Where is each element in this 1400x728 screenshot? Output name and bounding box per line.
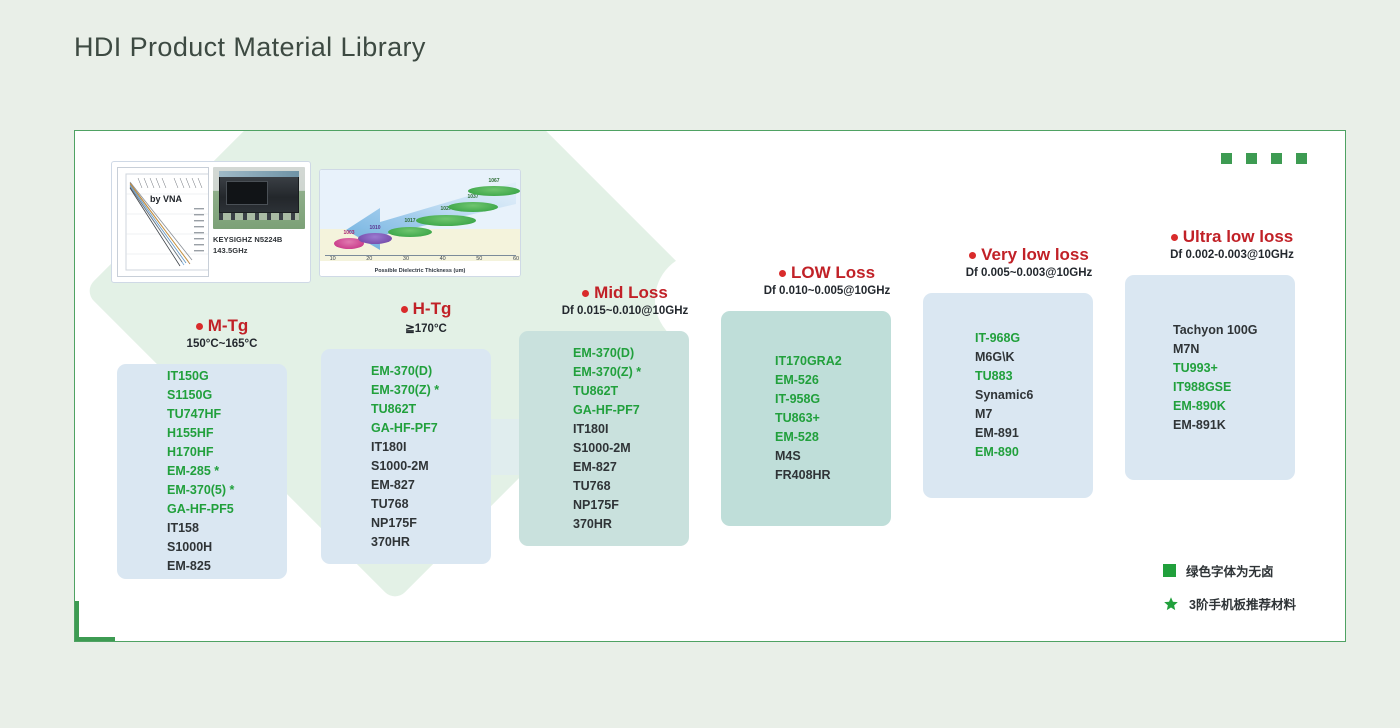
material-item: IT180I <box>573 420 689 439</box>
vna-chart: by VNA <box>117 167 209 277</box>
material-item: TU863+ <box>775 409 891 428</box>
dielectric-point-label: 1010 <box>369 225 380 231</box>
dielectric-point-label: 1067 <box>488 178 499 184</box>
material-item: IT988GSE <box>1173 378 1295 397</box>
material-item: EM-370(Z) * <box>573 363 689 382</box>
instrument-freq: 143.5GHz <box>213 246 305 257</box>
column-mid-loss: Mid LossDf 0.015~0.010@10GHzEM-370(D)EM-… <box>519 283 731 546</box>
material-item: EM-370(D) <box>573 344 689 363</box>
dielectric-thickness-panel: 100310101017102710371067 102030405060 Po… <box>319 169 521 277</box>
dielectric-xtick: 30 <box>403 256 409 262</box>
material-item: S1000H <box>167 538 287 557</box>
page-root: HDI Product Material Library <box>0 0 1400 728</box>
column-title: H-Tg <box>401 299 452 319</box>
column-low-loss: LOW LossDf 0.010~0.005@10GHzIT170GRA2EM-… <box>721 263 933 526</box>
column-header-mtg: M-Tg150°C~165°C <box>117 316 327 350</box>
material-list: EM-370(D)EM-370(Z) *TU862TGA-HF-PF7IT180… <box>321 362 491 552</box>
column-subtitle: Df 0.015~0.010@10GHz <box>519 305 731 317</box>
bullet-icon <box>401 306 408 313</box>
dielectric-xticks: 102030405060 <box>325 256 516 264</box>
instrument-caption: KEYSIGHZ N5224B 143.5GHz <box>213 235 305 257</box>
column-header-mid: Mid LossDf 0.015~0.010@10GHz <box>519 283 731 317</box>
column-title: M-Tg <box>196 316 249 336</box>
column-title-text: Very low loss <box>981 245 1089 265</box>
material-item: IT180I <box>371 438 491 457</box>
column-title: Mid Loss <box>582 283 668 303</box>
column-header-vlow: Very low lossDf 0.005~0.003@10GHz <box>923 245 1135 279</box>
column-title-text: H-Tg <box>413 299 452 319</box>
material-item: EM-890K <box>1173 397 1295 416</box>
column-title-text: Mid Loss <box>594 283 668 303</box>
column-subtitle: Df 0.002-0.003@10GHz <box>1125 249 1339 261</box>
green-square-icon <box>1163 564 1176 577</box>
legend-text: 3阶手机板推荐材料 <box>1189 594 1296 613</box>
material-item: H170HF <box>167 443 287 462</box>
material-list: IT-968GM6G\KTU883Synamic6M7EM-891EM-890 <box>923 329 1093 462</box>
material-list: IT170GRA2EM-526IT-958GTU863+EM-528M4SFR4… <box>721 352 891 485</box>
material-item: EM-526 <box>775 371 891 390</box>
material-item: EM-827 <box>371 476 491 495</box>
column-subtitle: ≧170°C <box>321 321 531 335</box>
material-item: TU862T <box>371 400 491 419</box>
dielectric-point-label: 1017 <box>404 218 415 224</box>
material-item: M6G\K <box>975 348 1093 367</box>
material-item: IT170GRA2 <box>775 352 891 371</box>
material-item: TU993+ <box>1173 359 1295 378</box>
material-card-ulow: Tachyon 100GM7NTU993+IT988GSEEM-890KEM-8… <box>1125 275 1295 480</box>
material-item: EM-370(D) <box>371 362 491 381</box>
material-item: TU747HF <box>167 405 287 424</box>
legend: 绿色字体为无卤3阶手机板推荐材料 <box>1163 561 1296 627</box>
material-item: S1000-2M <box>371 457 491 476</box>
material-item: EM-890 <box>975 443 1093 462</box>
column-title-text: LOW Loss <box>791 263 875 283</box>
material-item: TU768 <box>573 477 689 496</box>
material-item: Tachyon 100G <box>1173 321 1295 340</box>
material-item: EM-370(5) * <box>167 481 287 500</box>
board-corner-accent-vertical <box>75 601 79 641</box>
material-item: M7N <box>1173 340 1295 359</box>
column-subtitle: 150°C~165°C <box>117 338 327 350</box>
column-title: LOW Loss <box>779 263 875 283</box>
material-item: M4S <box>775 447 891 466</box>
dielectric-point <box>388 227 432 237</box>
bullet-icon <box>1171 234 1178 241</box>
column-header-low: LOW LossDf 0.010~0.005@10GHz <box>721 263 933 297</box>
material-card-htg: EM-370(D)EM-370(Z) *TU862TGA-HF-PF7IT180… <box>321 349 491 564</box>
material-item: IT158 <box>167 519 287 538</box>
column-title-text: Ultra low loss <box>1183 227 1294 247</box>
material-item: EM-891 <box>975 424 1093 443</box>
material-list: IT150GS1150GTU747HFH155HFH170HFEM-285 *E… <box>117 367 287 576</box>
material-item: TU862T <box>573 382 689 401</box>
column-header-ulow: Ultra low lossDf 0.002-0.003@10GHz <box>1125 227 1339 261</box>
material-card-low: IT170GRA2EM-526IT-958GTU863+EM-528M4SFR4… <box>721 311 891 526</box>
material-item: IT-958G <box>775 390 891 409</box>
material-item: GA-HF-PF7 <box>371 419 491 438</box>
material-item: IT-968G <box>975 329 1093 348</box>
green-star-icon <box>1163 596 1179 612</box>
dielectric-chart: 100310101017102710371067 102030405060 Po… <box>320 170 520 276</box>
material-item: EM-891K <box>1173 416 1295 435</box>
bullet-icon <box>582 290 589 297</box>
dielectric-point-label: 1003 <box>343 230 354 236</box>
material-item: M7 <box>975 405 1093 424</box>
dielectric-xtick: 60 <box>513 256 519 262</box>
material-card-mtg: IT150GS1150GTU747HFH155HFH170HFEM-285 *E… <box>117 364 287 579</box>
vna-instrument-block: KEYSIGHZ N5224B 143.5GHz <box>213 167 305 277</box>
material-item: GA-HF-PF5 <box>167 500 287 519</box>
legend-row: 绿色字体为无卤 <box>1163 561 1296 580</box>
instrument-photo <box>213 167 305 229</box>
material-item: EM-825 <box>167 557 287 576</box>
column-h-tg: H-Tg≧170°CEM-370(D)EM-370(Z) *TU862TGA-H… <box>321 299 531 564</box>
material-item: 370HR <box>573 515 689 534</box>
decor-dot <box>1221 153 1232 164</box>
material-item: EM-528 <box>775 428 891 447</box>
decor-dot <box>1296 153 1307 164</box>
material-item: EM-827 <box>573 458 689 477</box>
material-item: FR408HR <box>775 466 891 485</box>
material-list: Tachyon 100GM7NTU993+IT988GSEEM-890KEM-8… <box>1125 321 1295 435</box>
column-subtitle: Df 0.010~0.005@10GHz <box>721 285 933 297</box>
material-item: TU768 <box>371 495 491 514</box>
decor-dot <box>1271 153 1282 164</box>
page-title: HDI Product Material Library <box>74 32 426 63</box>
dielectric-point <box>448 202 498 212</box>
material-item: Synamic6 <box>975 386 1093 405</box>
dielectric-xtick: 10 <box>330 256 336 262</box>
material-item: TU883 <box>975 367 1093 386</box>
column-very-low-loss: Very low lossDf 0.005~0.003@10GHzIT-968G… <box>923 245 1135 498</box>
column-subtitle: Df 0.005~0.003@10GHz <box>923 267 1135 279</box>
dielectric-point <box>416 215 476 226</box>
decor-dots <box>1221 153 1307 164</box>
material-item: H155HF <box>167 424 287 443</box>
dielectric-xlabel: Possible Dielectric Thickness (um) <box>320 268 520 274</box>
vna-panel: by VNA KEYSIGHZ N5224B 143.5GHz <box>111 161 311 283</box>
dielectric-xtick: 20 <box>366 256 372 262</box>
column-ultra-low-loss: Ultra low lossDf 0.002-0.003@10GHzTachyo… <box>1125 227 1339 480</box>
material-item: NP175F <box>573 496 689 515</box>
material-item: NP175F <box>371 514 491 533</box>
legend-text: 绿色字体为无卤 <box>1186 561 1274 580</box>
board-corner-accent-horizontal <box>75 637 115 641</box>
material-item: S1150G <box>167 386 287 405</box>
bullet-icon <box>779 270 786 277</box>
material-item: IT150G <box>167 367 287 386</box>
dielectric-xtick: 40 <box>440 256 446 262</box>
dielectric-point <box>358 233 392 244</box>
vna-chart-label: by VNA <box>150 194 182 204</box>
material-card-vlow: IT-968GM6G\KTU883Synamic6M7EM-891EM-890 <box>923 293 1093 498</box>
vna-chart-svg <box>118 168 209 277</box>
dielectric-xtick: 50 <box>476 256 482 262</box>
instrument-model: KEYSIGHZ N5224B <box>213 235 305 246</box>
material-item: 370HR <box>371 533 491 552</box>
material-item: EM-285 * <box>167 462 287 481</box>
material-card-mid: EM-370(D)EM-370(Z) *TU862TGA-HF-PF7IT180… <box>519 331 689 546</box>
material-list: EM-370(D)EM-370(Z) *TU862TGA-HF-PF7IT180… <box>519 344 689 534</box>
column-title-text: M-Tg <box>208 316 249 336</box>
material-item: GA-HF-PF7 <box>573 401 689 420</box>
column-title: Ultra low loss <box>1171 227 1294 247</box>
bullet-icon <box>196 323 203 330</box>
material-item: EM-370(Z) * <box>371 381 491 400</box>
dielectric-point <box>468 186 520 196</box>
bullet-icon <box>969 252 976 259</box>
material-item: S1000-2M <box>573 439 689 458</box>
column-title: Very low loss <box>969 245 1089 265</box>
column-m-tg: M-Tg150°C~165°CIT150GS1150GTU747HFH155HF… <box>117 316 327 579</box>
column-header-htg: H-Tg≧170°C <box>321 299 531 335</box>
legend-row: 3阶手机板推荐材料 <box>1163 594 1296 613</box>
decor-dot <box>1246 153 1257 164</box>
material-board: by VNA KEYSIGHZ N5224B 143.5GHz <box>74 130 1346 642</box>
